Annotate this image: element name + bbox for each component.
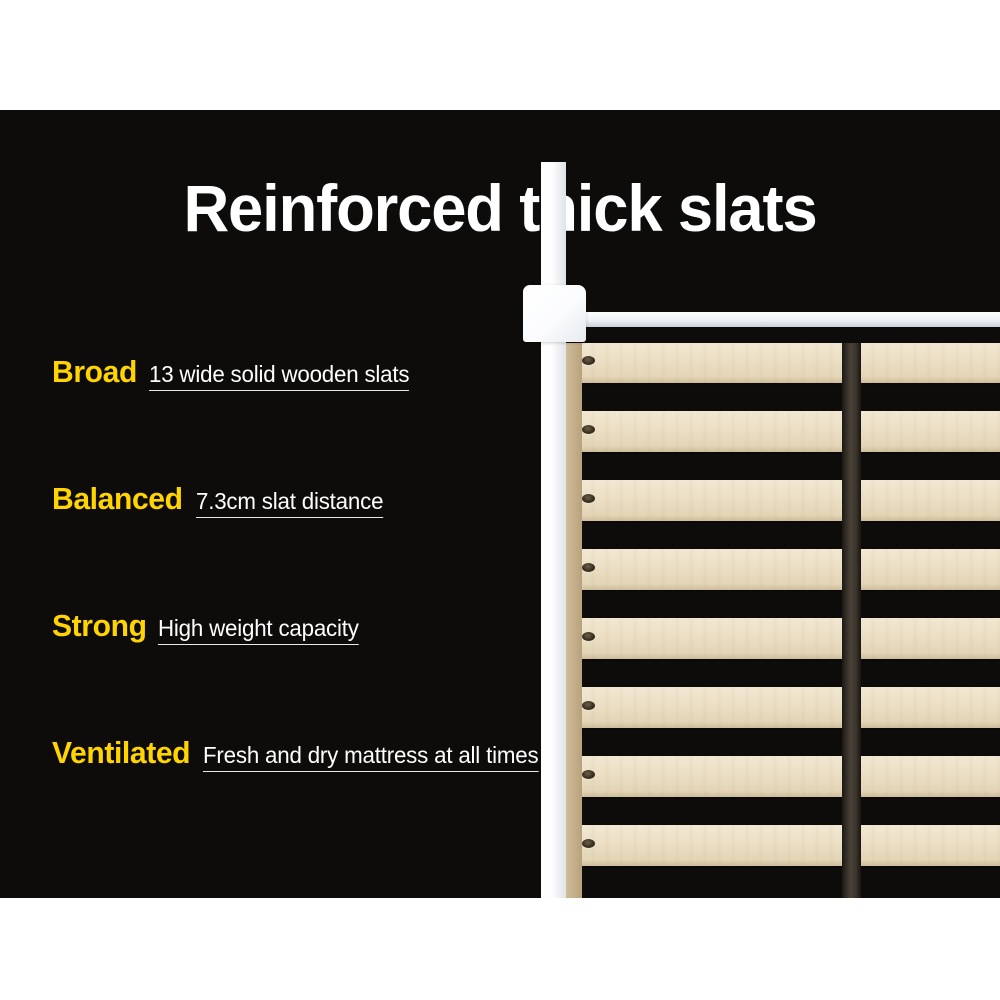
feature-row-balanced: Balanced 7.3cm slat distance <box>52 482 389 518</box>
wooden-slat <box>565 825 1000 866</box>
corner-post-leg <box>541 162 566 898</box>
slat-screw <box>582 356 595 365</box>
wooden-slat <box>565 756 1000 797</box>
slat-screw <box>582 494 595 503</box>
wooden-slat <box>565 480 1000 521</box>
wooden-slats-group <box>565 342 1000 898</box>
corner-post-cap <box>523 285 586 342</box>
bed-frame-photo <box>505 110 1000 898</box>
feature-label: Broad <box>52 355 137 389</box>
slat-screw <box>582 701 595 710</box>
top-rail-shadow <box>579 327 1000 343</box>
slat-screw <box>582 770 595 779</box>
slat-screw <box>582 839 595 848</box>
top-white-margin <box>0 0 1000 110</box>
feature-description: 7.3cm slat distance <box>196 488 383 518</box>
slat-screw <box>582 563 595 572</box>
feature-label: Strong <box>52 609 147 643</box>
feature-label: Balanced <box>52 482 183 516</box>
feature-panel: Reinforced thick slats Broad 13 wide sol… <box>0 110 1000 898</box>
feature-description: High weight capacity <box>158 615 359 645</box>
bottom-white-margin <box>0 898 1000 1000</box>
feature-row-strong: Strong High weight capacity <box>52 609 365 645</box>
feature-label: Ventilated <box>52 736 190 770</box>
wooden-slat <box>565 618 1000 659</box>
wooden-slat <box>565 687 1000 728</box>
top-side-rail <box>579 312 1000 327</box>
feature-description: 13 wide solid wooden slats <box>149 361 409 391</box>
wooden-slat <box>565 411 1000 452</box>
feature-row-ventilated: Ventilated Fresh and dry mattress at all… <box>52 736 549 772</box>
centre-support-strip <box>842 342 861 898</box>
product-feature-image: Reinforced thick slats Broad 13 wide sol… <box>0 0 1000 1000</box>
slat-screw <box>582 632 595 641</box>
slat-screw <box>582 425 595 434</box>
wooden-slat <box>565 342 1000 383</box>
feature-row-broad: Broad 13 wide solid wooden slats <box>52 355 417 391</box>
feature-description: Fresh and dry mattress at all times <box>203 742 538 772</box>
wooden-slat <box>565 549 1000 590</box>
